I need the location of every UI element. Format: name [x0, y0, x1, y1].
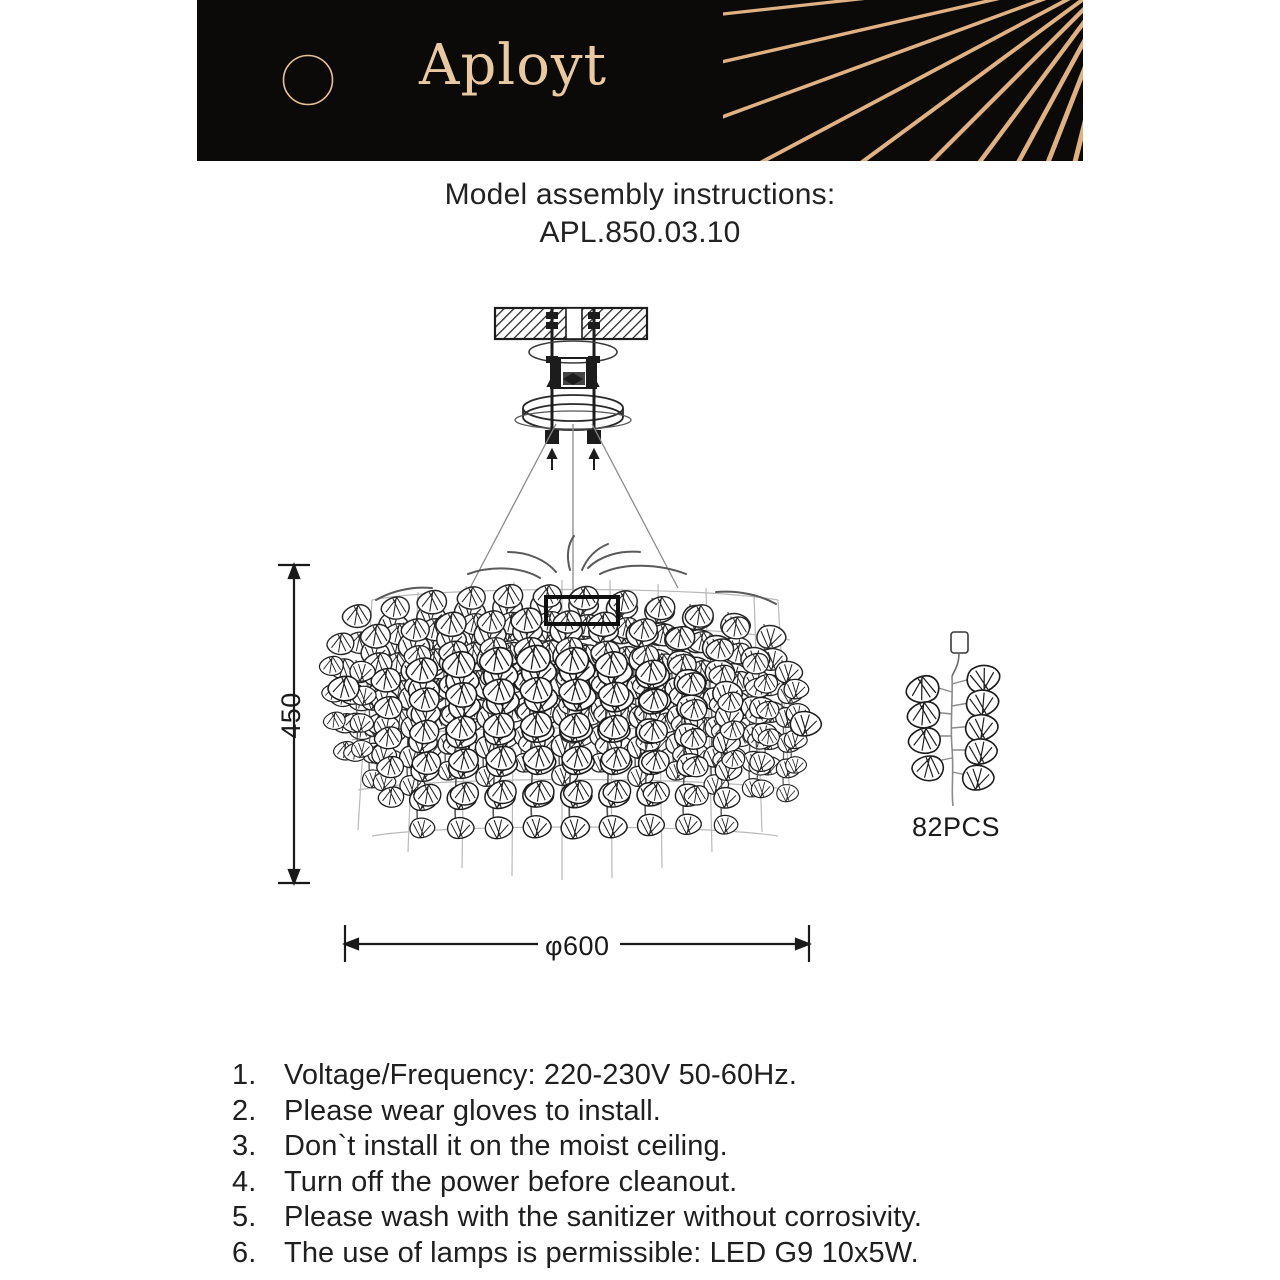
note-number: 4.: [232, 1165, 284, 1201]
note-item: 5. Please wash with the sanitizer withou…: [232, 1200, 1132, 1236]
part-quantity-label: 82PCS: [912, 812, 1000, 843]
note-number: 6.: [232, 1236, 284, 1272]
title-line-1: Model assembly instructions:: [0, 176, 1280, 214]
brand-banner: Aployt: [197, 0, 1083, 161]
note-text: Turn off the power before cleanout.: [284, 1165, 737, 1201]
leaf-chandelier-drawing: [317, 536, 824, 880]
note-item: 4. Turn off the power before cleanout.: [232, 1165, 1132, 1201]
note-text: Please wash with the sanitizer without c…: [284, 1200, 922, 1236]
gold-rays-icon: [723, 0, 1083, 161]
ceiling-mount-assembly-icon: [495, 308, 647, 400]
note-number: 2.: [232, 1094, 284, 1130]
note-item: 3. Don`t install it on the moist ceiling…: [232, 1129, 1132, 1165]
page-title: Model assembly instructions: APL.850.03.…: [0, 176, 1280, 252]
instruction-notes-list: 1. Voltage/Frequency: 220-230V 50-60Hz. …: [232, 1058, 1132, 1271]
note-text: Voltage/Frequency: 220-230V 50-60Hz.: [284, 1058, 797, 1094]
sunburst-logo-icon: [242, 14, 374, 146]
note-text: Please wear gloves to install.: [284, 1094, 661, 1130]
note-number: 1.: [232, 1058, 284, 1094]
note-number: 5.: [232, 1200, 284, 1236]
instruction-sheet: Aployt Model assembly instructions: APL.…: [0, 0, 1280, 1280]
note-item: 6. The use of lamps is permissible: LED …: [232, 1236, 1132, 1272]
note-item: 1. Voltage/Frequency: 220-230V 50-60Hz.: [232, 1058, 1132, 1094]
note-text: Don`t install it on the moist ceiling.: [284, 1129, 728, 1165]
diameter-dimension-label: φ600: [545, 931, 610, 962]
note-item: 2. Please wear gloves to install.: [232, 1094, 1132, 1130]
brand-wordmark: Aployt: [419, 38, 607, 94]
height-dimension-label: 450: [276, 692, 307, 739]
note-number: 3.: [232, 1129, 284, 1165]
leaf-vine-strand-icon: [905, 632, 1002, 806]
title-line-2: APL.850.03.10: [0, 214, 1280, 252]
note-text: The use of lamps is permissible: LED G9 …: [284, 1236, 919, 1272]
canopy-disc-icon: [470, 395, 678, 600]
